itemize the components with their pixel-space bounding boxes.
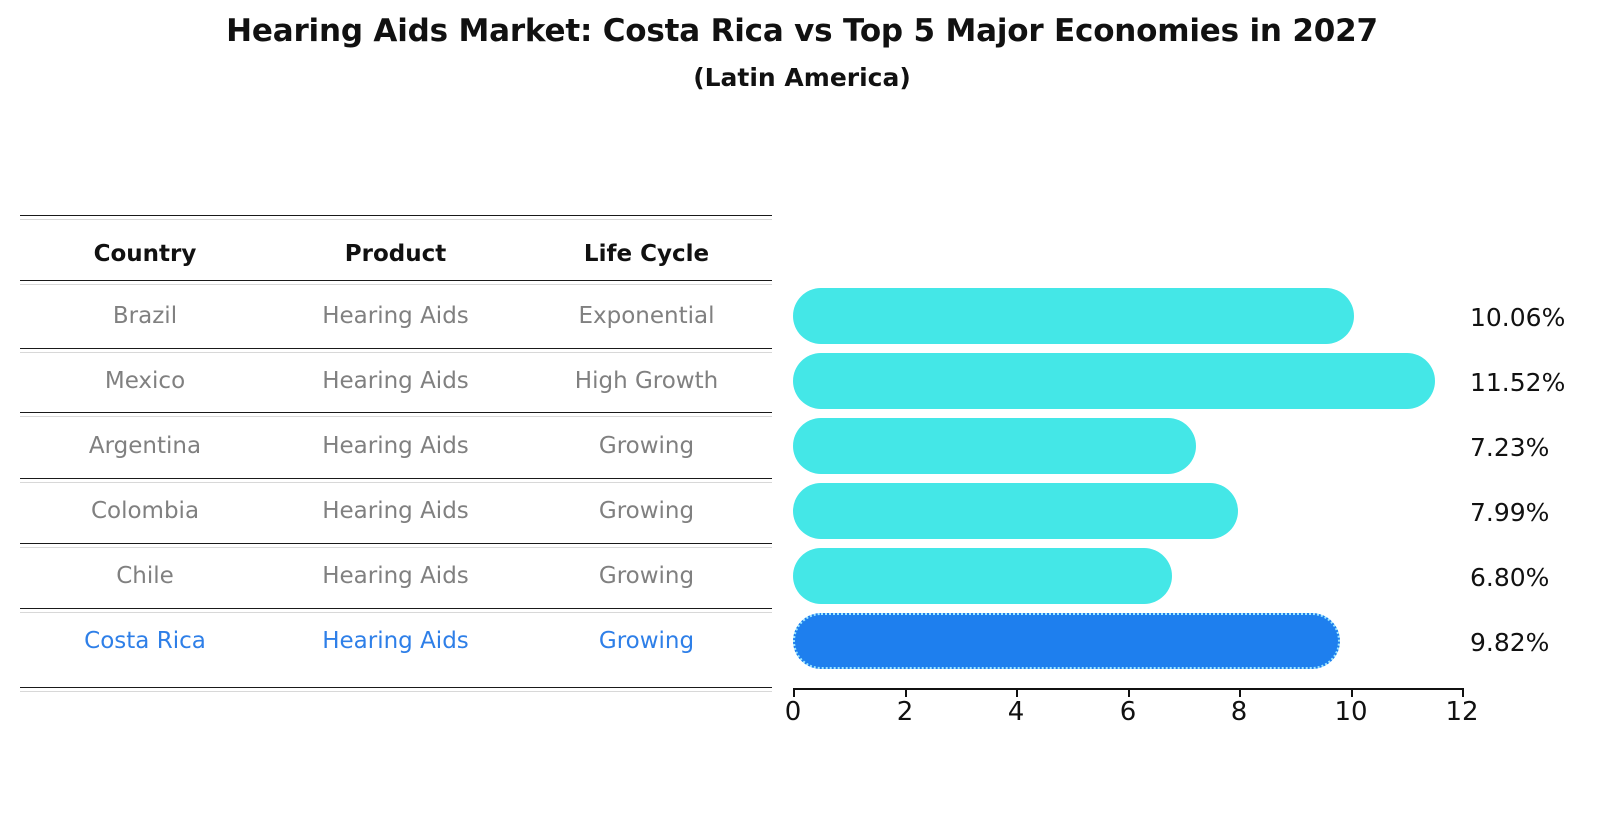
table-row[interactable]: Chile Hearing Aids Growing — [20, 548, 772, 604]
data-table: Country Product Life Cycle Brazil Hearin… — [20, 215, 772, 693]
bar-value-label: 10.06% — [1470, 305, 1565, 330]
bar-argentina[interactable] — [793, 418, 1196, 474]
cell-country: Costa Rica — [20, 628, 270, 654]
cell-country: Colombia — [20, 498, 270, 524]
page-subtitle: (Latin America) — [0, 63, 1604, 93]
column-header-life-cycle: Life Cycle — [521, 241, 772, 267]
table-rule-5 — [20, 608, 772, 609]
x-axis-line — [793, 688, 1463, 690]
cell-life-cycle: Growing — [521, 563, 772, 589]
cell-life-cycle: High Growth — [521, 368, 772, 394]
column-header-product: Product — [270, 241, 521, 267]
x-axis-tick — [1462, 688, 1464, 697]
cell-product: Hearing Aids — [270, 498, 521, 524]
bar-value-label: 7.99% — [1470, 500, 1549, 525]
cell-product: Hearing Aids — [270, 368, 521, 394]
column-header-country: Country — [20, 241, 270, 267]
bar-brazil[interactable] — [793, 288, 1354, 344]
title-block: Hearing Aids Market: Costa Rica vs Top 5… — [0, 12, 1604, 93]
x-axis-tick-label: 2 — [875, 698, 935, 727]
cell-life-cycle: Growing — [521, 628, 772, 654]
cell-product: Hearing Aids — [270, 433, 521, 459]
cell-life-cycle: Growing — [521, 433, 772, 459]
table-rule-4 — [20, 543, 772, 544]
table-rule-bottom — [20, 687, 772, 688]
x-axis-tick — [1239, 688, 1241, 697]
x-axis-tick — [1128, 688, 1130, 697]
x-axis-tick — [1016, 688, 1018, 697]
table-rule-1 — [20, 348, 772, 349]
cell-life-cycle: Growing — [521, 498, 772, 524]
x-axis-tick-label: 12 — [1432, 698, 1492, 727]
bar-value-label: 7.23% — [1470, 435, 1549, 460]
cell-product: Hearing Aids — [270, 628, 521, 654]
bar-mexico[interactable] — [793, 353, 1435, 409]
table-row[interactable]: Colombia Hearing Aids Growing — [20, 483, 772, 539]
table-rule-top — [20, 215, 772, 216]
x-axis-tick — [905, 688, 907, 697]
x-axis-tick-label: 10 — [1321, 698, 1381, 727]
cell-country: Mexico — [20, 368, 270, 394]
cell-country: Brazil — [20, 303, 270, 329]
table-rule-header — [20, 280, 772, 281]
cell-life-cycle: Exponential — [521, 303, 772, 329]
table-row[interactable]: Mexico Hearing Aids High Growth — [20, 353, 772, 409]
cell-product: Hearing Aids — [270, 563, 521, 589]
x-axis-tick-label: 6 — [1098, 698, 1158, 727]
x-axis-tick-label: 0 — [763, 698, 823, 727]
table-rule-3 — [20, 478, 772, 479]
table-rule-2 — [20, 412, 772, 413]
table-row-highlighted[interactable]: Costa Rica Hearing Aids Growing — [20, 613, 772, 669]
cell-country: Argentina — [20, 433, 270, 459]
table-row[interactable]: Brazil Hearing Aids Exponential — [20, 288, 772, 344]
x-axis-tick — [1351, 688, 1353, 697]
bar-chile[interactable] — [793, 548, 1172, 604]
cell-country: Chile — [20, 563, 270, 589]
table-header-row: Country Product Life Cycle — [20, 230, 772, 278]
bar-value-label: 6.80% — [1470, 565, 1549, 590]
bar-colombia[interactable] — [793, 483, 1238, 539]
table-row[interactable]: Argentina Hearing Aids Growing — [20, 418, 772, 474]
bar-costa-rica[interactable] — [793, 613, 1340, 669]
cell-product: Hearing Aids — [270, 303, 521, 329]
x-axis-tick-label: 4 — [986, 698, 1046, 727]
bar-value-label: 11.52% — [1470, 370, 1565, 395]
page-title: Hearing Aids Market: Costa Rica vs Top 5… — [0, 12, 1604, 51]
bar-value-label: 9.82% — [1470, 630, 1549, 655]
x-axis-tick-label: 8 — [1209, 698, 1269, 727]
x-axis-tick — [793, 688, 795, 697]
